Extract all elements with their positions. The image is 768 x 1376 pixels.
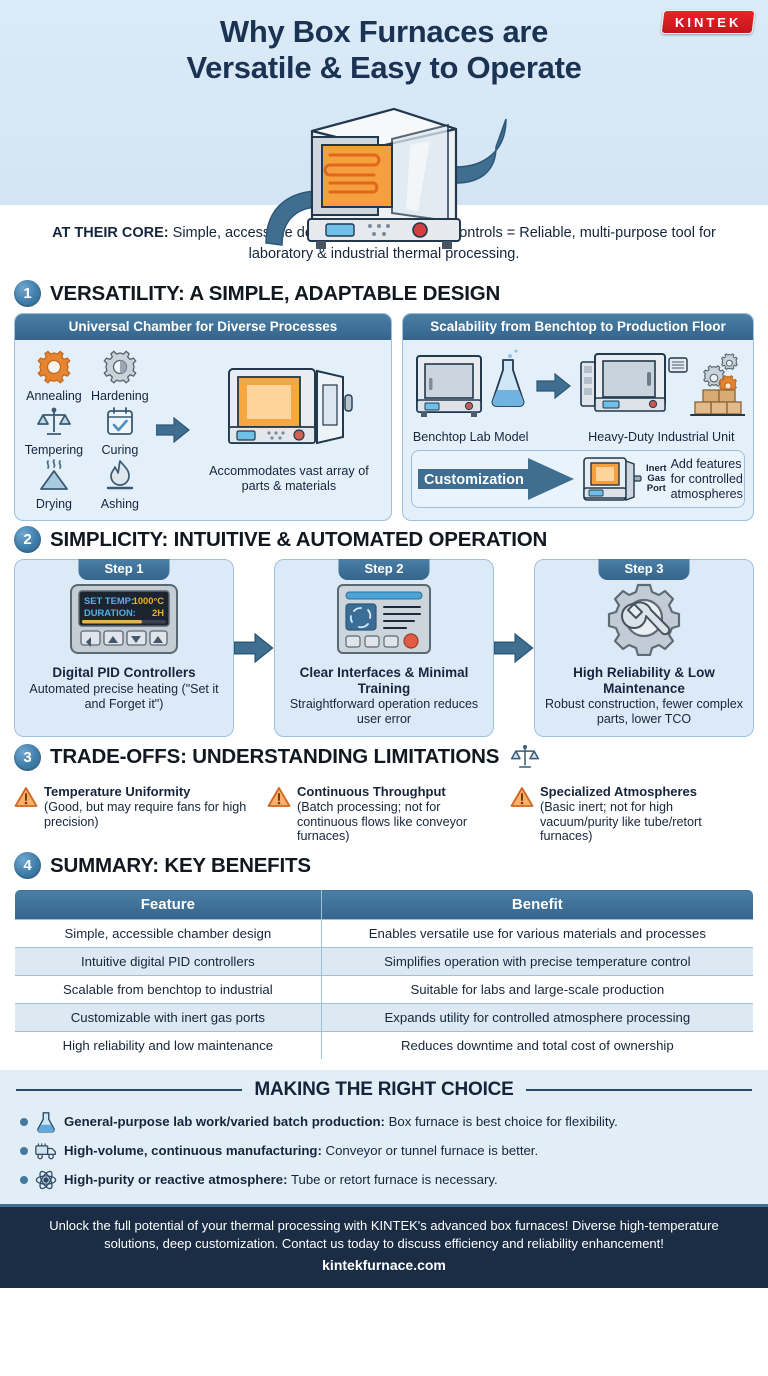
section-header-summary: 4 SUMMARY: KEY BENEFITS: [0, 844, 768, 885]
table-cell-feature: Simple, accessible chamber design: [15, 920, 322, 948]
step-description: Robust construction, fewer complex parts…: [543, 697, 745, 727]
step-tab-label: Step 1: [78, 559, 169, 580]
process-tempering: Tempering: [23, 404, 85, 457]
step-tab-label: Step 2: [338, 559, 429, 580]
tradeoffs-row: Temperature Uniformity (Good, but may re…: [0, 778, 768, 844]
customization-arrow: Customization: [418, 456, 576, 502]
choice-rest: Box furnace is best choice for flexibili…: [385, 1114, 618, 1129]
table-col-benefit: Benefit: [321, 890, 753, 920]
tradeoff-desc: (Good, but may require fans for high pre…: [44, 800, 246, 829]
hero-furnace-illustration: [234, 95, 534, 255]
tradeoff-text: Specialized Atmospheres (Basic inert; no…: [540, 784, 754, 844]
arrow-right-icon: [536, 373, 572, 399]
balance-scale-icon: [34, 404, 74, 440]
section-header-simplicity: 2 SIMPLICITY: INTUITIVE & AUTOMATED OPER…: [0, 521, 768, 559]
table-header-row: Feature Benefit: [15, 890, 754, 920]
process-label: Ashing: [89, 497, 151, 511]
balance-scale-icon: [508, 742, 542, 772]
panel-title-scalability: Scalability from Benchtop to Production …: [403, 314, 753, 340]
accommodates-block: Accommodates vast array of parts & mater…: [195, 365, 383, 495]
table-cell-feature: Scalable from benchtop to industrial: [15, 976, 322, 1004]
table-cell-benefit: Enables versatile use for various materi…: [321, 920, 753, 948]
table-cell-feature: High reliability and low maintenance: [15, 1032, 322, 1060]
scale-industrial: Heavy-Duty Industrial Unit: [577, 346, 745, 444]
interface-panel-icon: [335, 582, 433, 656]
step-title: Clear Interfaces & Minimal Training: [283, 665, 485, 696]
table-cell-benefit: Expands utility for controlled atmospher…: [321, 1004, 753, 1032]
panel-title-universal-chamber: Universal Chamber for Diverse Processes: [15, 314, 391, 340]
step-card-1: Step 1 SET TEMP: 1000°C DURATION: 2H: [14, 559, 234, 737]
process-ashing: Ashing: [89, 458, 151, 511]
pid-set-temp-value: 1000°C: [133, 595, 165, 606]
table-row: Simple, accessible chamber design Enable…: [15, 920, 754, 948]
scale-label: Heavy-Duty Industrial Unit: [577, 430, 745, 444]
table-row: Intuitive digital PID controllers Simpli…: [15, 948, 754, 976]
panel-scalability: Scalability from Benchtop to Production …: [402, 313, 754, 521]
tradeoff-desc: (Batch processing; not for continuous fl…: [297, 800, 467, 844]
process-drying: Drying: [23, 458, 85, 511]
choice-bold: General-purpose lab work/varied batch pr…: [64, 1114, 385, 1129]
section-badge-1: 1: [14, 280, 41, 307]
open-furnace-icon: [223, 365, 355, 457]
table-cell-benefit: Suitable for labs and large-scale produc…: [321, 976, 753, 1004]
section-badge-4: 4: [14, 852, 41, 879]
versatility-panels: Universal Chamber for Diverse Processes …: [0, 313, 768, 521]
gear-icon: [722, 354, 738, 370]
small-furnace-icon: [411, 346, 531, 424]
pid-duration-label: DURATION:: [84, 607, 136, 618]
page-title-line1: Why Box Furnaces are: [90, 14, 678, 50]
step-description: Straightforward operation reduces user e…: [283, 697, 485, 727]
tradeoff-item: Continuous Throughput (Batch processing;…: [267, 784, 502, 844]
gear-icon: [34, 348, 74, 386]
tradeoff-title: Temperature Uniformity: [44, 784, 259, 799]
tradeoff-item: Temperature Uniformity (Good, but may re…: [14, 784, 259, 844]
customization-label: Customization: [424, 472, 524, 488]
kintek-logo[interactable]: KINTEK: [661, 10, 756, 34]
step-title: Digital PID Controllers: [23, 665, 225, 681]
accommodates-caption: Accommodates vast array of parts & mater…: [195, 464, 383, 495]
flame-icon: [100, 458, 140, 494]
section-badge-2: 2: [14, 526, 41, 553]
process-label: Annealing: [23, 389, 85, 403]
tradeoff-title: Continuous Throughput: [297, 784, 502, 799]
hero-band: Why Box Furnaces are Versatile & Easy to…: [0, 0, 768, 205]
table-row: High reliability and low maintenance Red…: [15, 1032, 754, 1060]
step-connector-1: [234, 559, 274, 737]
scale-label: Benchtop Lab Model: [411, 430, 531, 444]
step-connector-2: [494, 559, 534, 737]
pid-duration-value: 2H: [152, 607, 164, 618]
kintek-logo-text: KINTEK: [675, 15, 741, 30]
process-label: Curing: [89, 443, 151, 457]
choice-title: MAKING THE RIGHT CHOICE: [254, 1079, 513, 1101]
section-title-2: SIMPLICITY: INTUITIVE & AUTOMATED OPERAT…: [50, 528, 547, 552]
process-annealing: Annealing: [23, 348, 85, 403]
bullet-dot: [20, 1176, 28, 1184]
footer-url[interactable]: kintekfurnace.com: [22, 1257, 746, 1273]
footer: Unlock the full potential of your therma…: [0, 1207, 768, 1288]
atom-icon: [35, 1169, 57, 1191]
process-grid: Annealing Hardening: [23, 348, 151, 511]
footer-text: Unlock the full potential of your therma…: [22, 1217, 746, 1253]
choice-item-manufacturing: High-volume, continuous manufacturing: C…: [16, 1136, 752, 1165]
table-cell-benefit: Reduces downtime and total cost of owner…: [321, 1032, 753, 1060]
choice-bold: High-volume, continuous manufacturing:: [64, 1143, 322, 1158]
process-curing: Curing: [89, 404, 151, 457]
inert-furnace-icon: [580, 455, 642, 503]
step-card-2: Step 2 Clear Interfaces & Minimal T: [274, 559, 494, 737]
arrow-right-icon: [156, 417, 190, 443]
warning-icon: [267, 786, 291, 808]
pid-controller-icon: SET TEMP: 1000°C DURATION: 2H: [68, 582, 180, 656]
choice-rest: Conveyor or tunnel furnace is better.: [322, 1143, 538, 1158]
choice-text: High-volume, continuous manufacturing: C…: [64, 1143, 538, 1158]
drying-heat-icon: [34, 458, 74, 494]
table-cell-feature: Intuitive digital PID controllers: [15, 948, 322, 976]
section-header-versatility: 1 VERSATILITY: A SIMPLE, ADAPTABLE DESIG…: [0, 275, 768, 313]
tradeoff-desc: (Basic inert; not for high vacuum/purity…: [540, 800, 702, 844]
table-row: Scalable from benchtop to industrial Sui…: [15, 976, 754, 1004]
infographic-page: Why Box Furnaces are Versatile & Easy to…: [0, 0, 768, 1376]
steps-row: Step 1 SET TEMP: 1000°C DURATION: 2H: [0, 559, 768, 737]
process-label: Tempering: [23, 443, 85, 457]
flask-icon: [35, 1111, 57, 1133]
section-title-3: TRADE-OFFS: UNDERSTANDING LIMITATIONS: [50, 745, 499, 769]
gear-wrench-icon: [601, 582, 687, 656]
choice-text: General-purpose lab work/varied batch pr…: [64, 1114, 618, 1129]
choice-item-lab: General-purpose lab work/varied batch pr…: [16, 1107, 752, 1136]
divider-left: [16, 1089, 242, 1091]
tradeoff-title: Specialized Atmospheres: [540, 784, 754, 799]
tradeoff-item: Specialized Atmospheres (Basic inert; no…: [510, 784, 754, 844]
choice-bold: High-purity or reactive atmosphere:: [64, 1172, 288, 1187]
table-row: Customizable with inert gas ports Expand…: [15, 1004, 754, 1032]
section-header-tradeoffs: 3 TRADE-OFFS: UNDERSTANDING LIMITATIONS: [0, 737, 768, 778]
table-cell-feature: Customizable with inert gas ports: [15, 1004, 322, 1032]
pid-set-temp-label: SET TEMP:: [84, 595, 134, 606]
process-hardening: Hardening: [89, 348, 151, 403]
choice-band: MAKING THE RIGHT CHOICE General-purpose …: [0, 1070, 768, 1204]
choice-header: MAKING THE RIGHT CHOICE: [16, 1079, 752, 1101]
customization-row: Customization Inert Gas Port Add feature…: [411, 450, 745, 508]
section-title-1: VERSATILITY: A SIMPLE, ADAPTABLE DESIGN: [50, 282, 500, 306]
tradeoff-text: Continuous Throughput (Batch processing;…: [297, 784, 502, 844]
gear-half-icon: [100, 348, 140, 386]
step-tab-label: Step 3: [598, 559, 689, 580]
warning-icon: [510, 786, 534, 808]
process-label: Drying: [23, 497, 85, 511]
table-cell-benefit: Simplifies operation with precise temper…: [321, 948, 753, 976]
arrow-right-icon: [234, 633, 274, 663]
inert-gas-port-label: Inert Gas Port: [646, 464, 667, 495]
page-title: Why Box Furnaces are Versatile & Easy to…: [0, 14, 768, 87]
section-title-4: SUMMARY: KEY BENEFITS: [50, 854, 311, 878]
section-badge-3: 3: [14, 744, 41, 771]
warning-icon: [14, 786, 38, 808]
step-title: High Reliability & Low Maintenance: [543, 665, 745, 696]
customization-description: Add features for controlled atmospheres: [671, 457, 743, 502]
choice-item-atmosphere: High-purity or reactive atmosphere: Tube…: [16, 1165, 752, 1194]
industrial-furnace-icon: [577, 346, 745, 424]
divider-right: [526, 1089, 752, 1091]
process-label: Hardening: [89, 389, 151, 403]
arrow-right-icon: [494, 633, 534, 663]
tradeoff-text: Temperature Uniformity (Good, but may re…: [44, 784, 259, 844]
scale-benchtop: Benchtop Lab Model: [411, 346, 531, 444]
step-description: Automated precise heating ("Set it and F…: [23, 682, 225, 712]
summary-table-wrap: Feature Benefit Simple, accessible chamb…: [0, 885, 768, 1060]
summary-table: Feature Benefit Simple, accessible chamb…: [14, 889, 754, 1060]
calendar-check-icon: [100, 404, 140, 440]
truck-icon: [35, 1140, 57, 1162]
bullet-dot: [20, 1118, 28, 1126]
choice-rest: Tube or retort furnace is necessary.: [288, 1172, 498, 1187]
core-lead: AT THEIR CORE:: [52, 225, 169, 241]
bullet-dot: [20, 1147, 28, 1155]
page-title-line2: Versatile & Easy to Operate: [90, 50, 678, 86]
panel-universal-chamber: Universal Chamber for Diverse Processes …: [14, 313, 392, 521]
choice-text: High-purity or reactive atmosphere: Tube…: [64, 1172, 498, 1187]
table-col-feature: Feature: [15, 890, 322, 920]
step-card-3: Step 3 High Reliability & Low Maintenanc…: [534, 559, 754, 737]
